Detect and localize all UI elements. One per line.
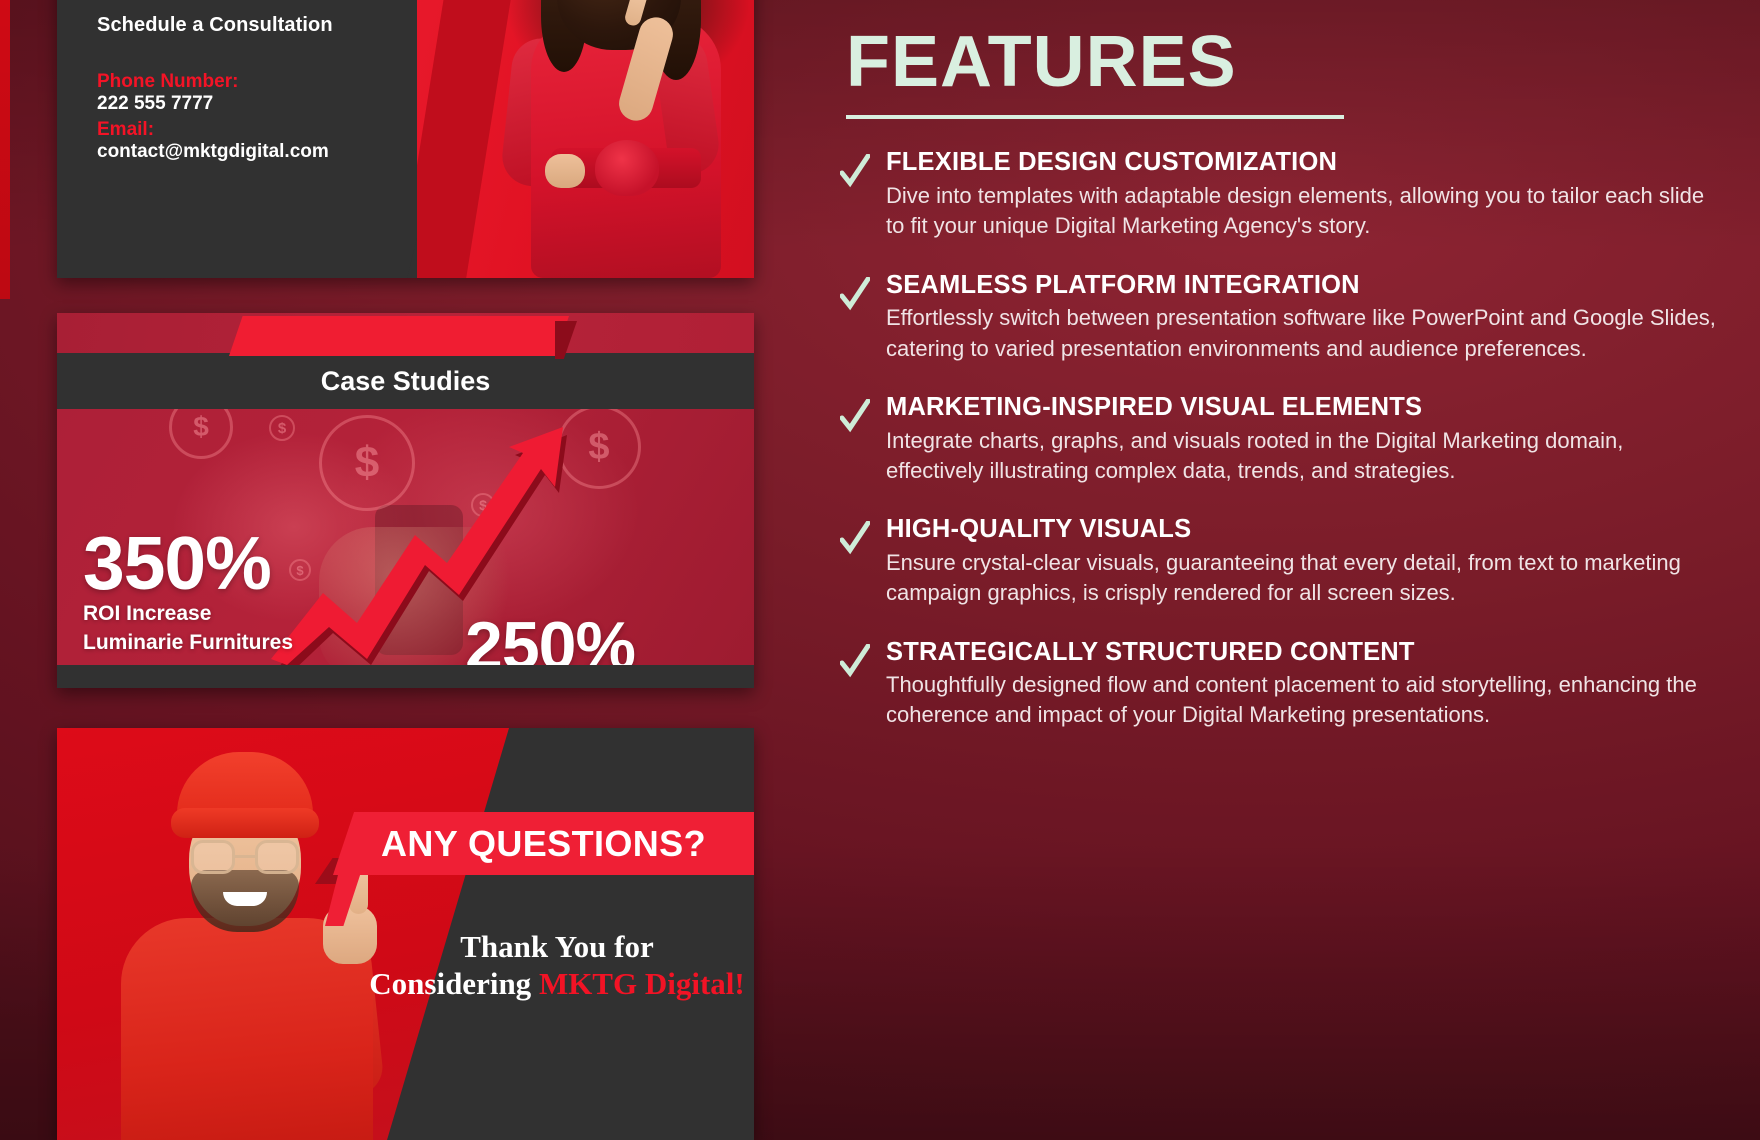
man-beanie-brim [171,808,319,838]
slide-thumbnail-case-studies[interactable]: Case Studies $ $ $ $ $ $ 350% ROI Increa… [57,313,754,688]
woman-left-hand [545,154,585,188]
any-questions-banner: ANY QUESTIONS? [333,812,754,875]
check-icon [840,521,870,557]
feature-heading: FLEXIBLE DESIGN CUSTOMIZATION [886,148,1720,177]
feature-item: SEAMLESS PLATFORM INTEGRATION Effortless… [836,271,1720,364]
phone-value: 222 555 7777 [97,93,437,115]
features-panel: FEATURES FLEXIBLE DESIGN CUSTOMIZATION D… [790,0,1760,1140]
feature-item: HIGH-QUALITY VISUALS Ensure crystal-clea… [836,515,1720,608]
features-title-underline [846,115,1344,119]
feature-heading: SEAMLESS PLATFORM INTEGRATION [886,271,1720,300]
check-icon [840,644,870,680]
case-studies-footer-bar [57,665,754,688]
check-icon [840,277,870,313]
feature-body: Integrate charts, graphs, and visuals ro… [886,426,1720,487]
feature-item: MARKETING-INSPIRED VISUAL ELEMENTS Integ… [836,393,1720,486]
email-value: contact@mktgdigital.com [97,141,437,163]
coin-icon: $ [169,409,233,459]
thanks-brand: MKTG Digital! [539,966,745,1001]
case-studies-title: Case Studies [57,353,754,409]
feature-item: FLEXIBLE DESIGN CUSTOMIZATION Dive into … [836,148,1720,241]
stat-one-line2: Luminarie Furnitures [83,631,293,656]
next-steps-content: Schedule a Consultation Phone Number: 22… [97,14,437,163]
slide-thumbnail-next-steps[interactable]: Next Steps Schedule a Consultation Phone… [57,0,754,278]
stat-one-line1: ROI Increase [83,602,293,627]
schedule-consultation-heading: Schedule a Consultation [97,14,437,37]
check-icon [840,154,870,190]
feature-heading: HIGH-QUALITY VISUALS [886,515,1720,544]
check-icon [840,399,870,435]
stat-two-value: 250% [465,615,748,665]
slide-thumbnail-any-questions[interactable]: ANY QUESTIONS? Thank You for Considering… [57,728,754,1140]
case-studies-red-tab [229,316,569,356]
feature-heading: MARKETING-INSPIRED VISUAL ELEMENTS [886,393,1720,422]
email-label: Email: [97,119,437,141]
features-title: FEATURES [836,26,1720,99]
feature-body: Dive into templates with adaptable desig… [886,181,1720,242]
feature-body: Effortlessly switch between presentation… [886,303,1720,364]
case-studies-photo: $ $ $ $ $ $ 350% ROI Increase Luminarie … [57,409,754,665]
woman-belt-knot [595,140,659,196]
stat-one: 350% ROI Increase Luminarie Furnitures [83,529,293,656]
man-glasses-icon [191,840,299,874]
feature-item: STRATEGICALLY STRUCTURED CONTENT Thought… [836,638,1720,731]
woman-pointing-figure [479,0,749,278]
phone-label: Phone Number: [97,71,437,93]
thanks-line1: Thank You for [460,929,654,964]
feature-body: Ensure crystal-clear visuals, guaranteei… [886,548,1720,609]
feature-heading: STRATEGICALLY STRUCTURED CONTENT [886,638,1720,667]
next-steps-photo [417,0,754,278]
stat-two: 250% Social Media Engagement Increase Th… [465,615,748,665]
feature-body: Thoughtfully designed flow and content p… [886,670,1720,731]
thank-you-message: Thank You for Considering MKTG Digital! [357,928,754,1002]
stat-one-value: 350% [83,529,293,598]
thanks-line2-pre: Considering [369,966,539,1001]
